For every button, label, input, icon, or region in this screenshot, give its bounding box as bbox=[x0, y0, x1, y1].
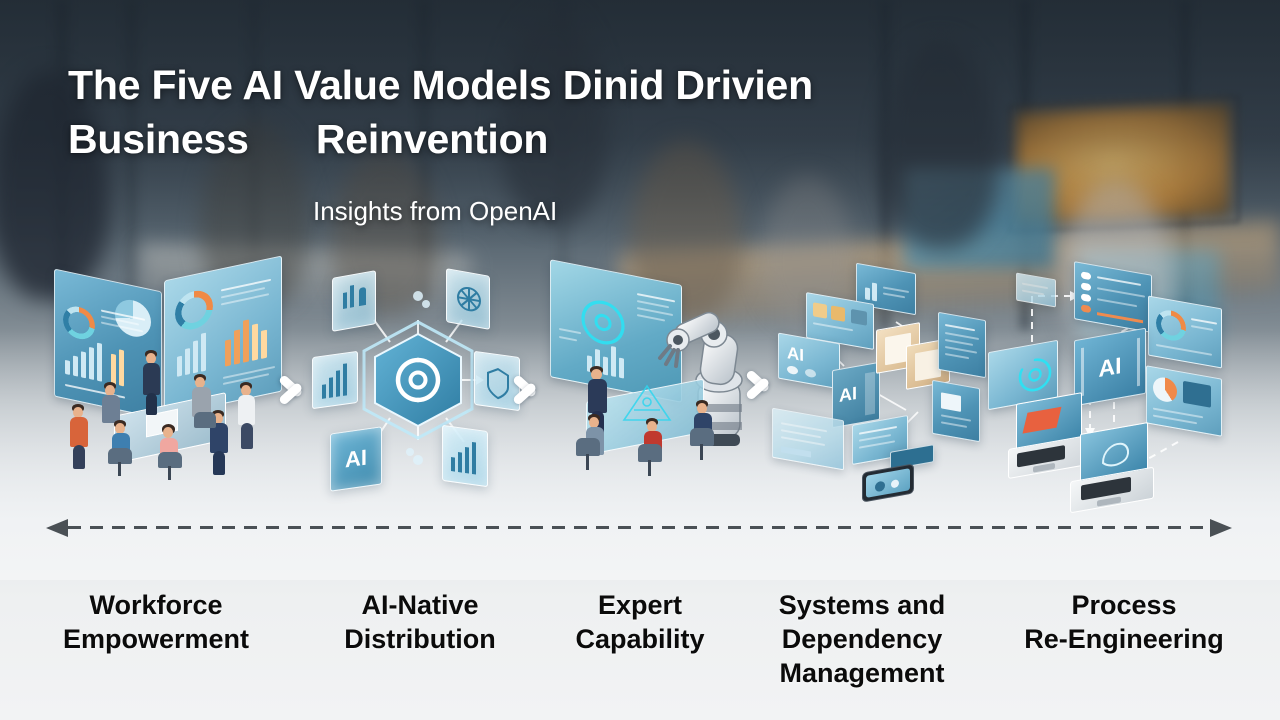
stage-illustration-systems-dependency: AI AI bbox=[778, 262, 988, 512]
swirl-fingerprint-icon bbox=[1013, 349, 1057, 401]
stage-illustration-workforce-empowerment bbox=[42, 262, 292, 512]
stage-label-expert-capability: Expert Capability bbox=[548, 588, 732, 656]
ai-swirl-hologram-icon bbox=[573, 287, 633, 359]
stage-illustration-expert-capability bbox=[548, 262, 758, 512]
stage-label-workforce-empowerment: Workforce Empowerment bbox=[22, 588, 290, 656]
satellite-card-chart-top-left bbox=[332, 270, 376, 332]
stage-label-systems-dependency: Systems and Dependency Management bbox=[742, 588, 982, 690]
server-stack-ai: AI bbox=[832, 362, 880, 428]
stage-label-process-reengineering: Process Re-Engineering bbox=[990, 588, 1258, 656]
chair-center-leg bbox=[648, 460, 651, 476]
satellite-card-ai-bottom-left: AI bbox=[330, 426, 382, 491]
page-subtitle: Insights from OpenAI bbox=[313, 196, 557, 227]
timeline-arrowhead-right bbox=[1210, 519, 1232, 537]
stages-row: AI bbox=[0, 262, 1280, 512]
laptop-right bbox=[1070, 428, 1154, 514]
title-block: The Five AI Value Models Dinid Drivien B… bbox=[68, 58, 968, 166]
chevron-separator-2 bbox=[512, 362, 542, 418]
panel-ai-center-label: AI bbox=[1075, 329, 1145, 405]
satellite-card-chart-left bbox=[312, 351, 358, 409]
server-stack-ai-label: AI bbox=[839, 383, 857, 407]
panel-ai-center: AI bbox=[1074, 328, 1146, 407]
panel-document-right bbox=[938, 312, 986, 378]
slide-canvas: The Five AI Value Models Dinid Drivien B… bbox=[0, 0, 1280, 720]
satellite-card-network-top-right bbox=[446, 268, 490, 330]
satellite-card-chart-bottom-right bbox=[442, 425, 488, 487]
chevron-separator-1 bbox=[278, 362, 308, 418]
chair-right-leg bbox=[700, 444, 703, 460]
chair-left-leg bbox=[586, 454, 589, 470]
page-title-line-2: Business Reinvention bbox=[68, 112, 968, 166]
stage-labels: Workforce Empowerment AI-Native Distribu… bbox=[0, 588, 1280, 708]
satellite-card-ai-label: AI bbox=[331, 427, 381, 490]
chair-3 bbox=[194, 412, 216, 428]
chevron-separator-3 bbox=[745, 357, 775, 413]
stage-label-ai-native-distribution: AI-Native Distribution bbox=[300, 588, 540, 656]
page-title-line-1: The Five AI Value Models Dinid Drivien bbox=[68, 58, 968, 112]
timeline-arrow bbox=[46, 519, 1232, 537]
stage-illustration-process-reengineering: AI bbox=[1018, 262, 1258, 512]
chair-1-leg bbox=[118, 462, 121, 476]
hexagon-core-node bbox=[358, 318, 478, 442]
timeline-dashed-line bbox=[68, 526, 1210, 529]
panel-ai-left-label: AI bbox=[787, 343, 804, 366]
timeline-arrowhead-left bbox=[46, 519, 68, 537]
stage-illustration-ai-native-distribution: AI bbox=[318, 262, 518, 512]
panel-donut-report bbox=[1148, 295, 1222, 368]
panel-flag-right bbox=[932, 380, 980, 442]
chair-2-leg bbox=[168, 466, 171, 480]
